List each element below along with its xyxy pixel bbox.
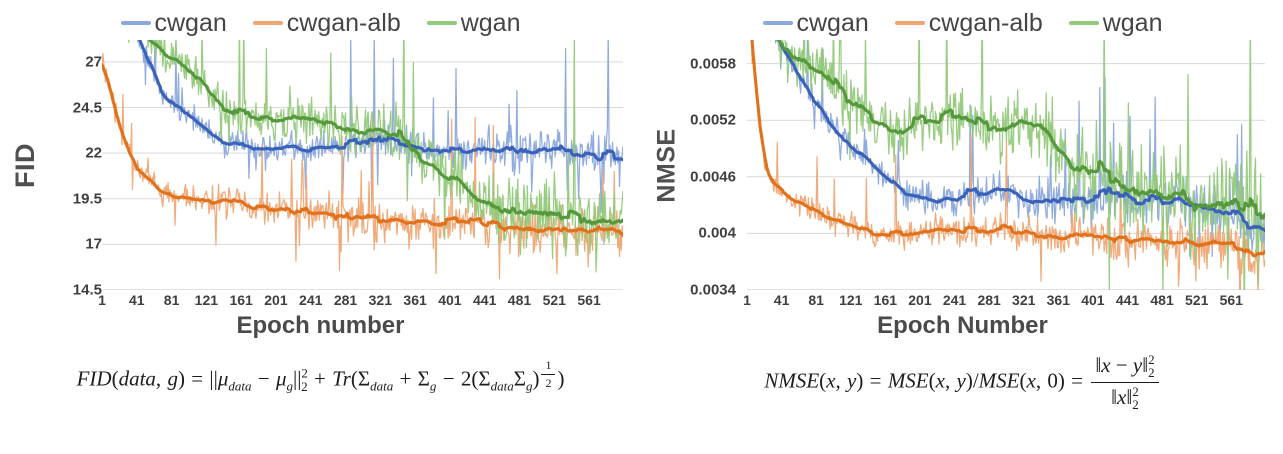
panel-nmse: cwgan cwgan-alb wgan NMSE 0.00580.00520.… bbox=[642, 0, 1283, 454]
x-tick-label: 481 bbox=[1150, 292, 1173, 308]
x-tick-label: 521 bbox=[1185, 292, 1208, 308]
x-tick-label: 41 bbox=[129, 292, 145, 308]
y-tick-label: 24.5 bbox=[73, 99, 102, 116]
chart-nmse: NMSE 0.00580.00520.00460.0040.0034 bbox=[642, 40, 1283, 290]
legend-item-cwgan: cwgan bbox=[763, 11, 869, 36]
y-tick-label: 0.0052 bbox=[690, 112, 736, 129]
legend-label-wgan: wgan bbox=[1103, 11, 1163, 36]
x-tick-label: 161 bbox=[229, 292, 252, 308]
x-tick-label: 281 bbox=[334, 292, 357, 308]
x-tick-label: 241 bbox=[943, 292, 966, 308]
figure-root: cwgan cwgan-alb wgan FID 2724.52219.5171… bbox=[0, 0, 1283, 454]
x-tick-label: 201 bbox=[264, 292, 287, 308]
legend-item-wgan: wgan bbox=[427, 11, 521, 36]
legend-nmse: cwgan cwgan-alb wgan bbox=[642, 6, 1283, 40]
y-tick-label: 0.004 bbox=[698, 225, 736, 242]
chart-fid: FID 2724.52219.51714.5 bbox=[0, 40, 641, 290]
legend-item-cwgan-alb: cwgan-alb bbox=[895, 11, 1043, 36]
x-tick-label: 401 bbox=[438, 292, 461, 308]
x-tick-label: 441 bbox=[1116, 292, 1139, 308]
x-tick-label: 561 bbox=[1220, 292, 1243, 308]
legend-item-cwgan: cwgan bbox=[121, 11, 227, 36]
formula-fid: FID(data,g)=||μdata−μg||22+Tr(Σdata+Σg−2… bbox=[0, 358, 641, 395]
x-tick-label: 361 bbox=[403, 292, 426, 308]
x-tick-label: 121 bbox=[195, 292, 218, 308]
y-tick-label: 0.0046 bbox=[690, 168, 736, 185]
x-tick-label: 401 bbox=[1081, 292, 1104, 308]
plot-area-fid bbox=[102, 40, 623, 290]
y-tick-label: 27 bbox=[85, 53, 102, 70]
legend-swatch-wgan bbox=[427, 21, 457, 25]
x-axis-title-fid: Epoch number bbox=[0, 312, 641, 340]
legend-label-cwgan-alb: cwgan-alb bbox=[929, 11, 1043, 36]
x-tick-label: 201 bbox=[908, 292, 931, 308]
x-tick-label: 561 bbox=[577, 292, 600, 308]
x-tick-label: 361 bbox=[1047, 292, 1070, 308]
legend-label-wgan: wgan bbox=[461, 11, 521, 36]
gridlines bbox=[102, 62, 623, 290]
x-tick-label: 161 bbox=[874, 292, 897, 308]
legend-swatch-cwgan bbox=[121, 21, 151, 25]
x-tick-label: 281 bbox=[977, 292, 1000, 308]
legend-swatch-wgan bbox=[1069, 21, 1099, 25]
y-tick-label: 19.5 bbox=[73, 190, 102, 207]
x-tick-label: 441 bbox=[473, 292, 496, 308]
x-axis-title-nmse: Epoch Number bbox=[642, 312, 1283, 340]
formula-nmse: NMSE(x,y)=MSE(x,y)/MSE(x,0)=‖x − y‖22‖x‖… bbox=[642, 352, 1283, 413]
legend-swatch-cwgan-alb bbox=[895, 21, 925, 25]
y-tick-label: 22 bbox=[85, 145, 102, 162]
legend-label-cwgan: cwgan bbox=[797, 11, 869, 36]
x-tick-label: 241 bbox=[299, 292, 322, 308]
legend-label-cwgan: cwgan bbox=[155, 11, 227, 36]
legend-swatch-cwgan-alb bbox=[253, 21, 283, 25]
legend-fid: cwgan cwgan-alb wgan bbox=[0, 6, 641, 40]
y-tick-label: 17 bbox=[85, 236, 102, 253]
x-tick-label: 321 bbox=[369, 292, 392, 308]
x-tick-label: 481 bbox=[508, 292, 531, 308]
legend-label-cwgan-alb: cwgan-alb bbox=[287, 11, 401, 36]
y-tick-label: 0.0058 bbox=[690, 55, 736, 72]
series-noisy-cwgan-alb bbox=[102, 54, 623, 279]
x-tick-label: 1 bbox=[743, 292, 751, 308]
x-tick-label: 321 bbox=[1012, 292, 1035, 308]
y-tick-label: 0.0034 bbox=[690, 282, 736, 299]
legend-swatch-cwgan bbox=[763, 21, 793, 25]
plot-area-nmse bbox=[747, 40, 1265, 290]
x-tick-label: 81 bbox=[164, 292, 180, 308]
x-tick-label: 521 bbox=[543, 292, 566, 308]
legend-item-cwgan-alb: cwgan-alb bbox=[253, 11, 401, 36]
x-tick-label: 41 bbox=[774, 292, 790, 308]
y-axis-ticks-fid: 2724.52219.51714.5 bbox=[30, 40, 102, 290]
chart-svg bbox=[102, 40, 623, 290]
chart-svg bbox=[747, 40, 1265, 290]
y-axis-ticks-nmse: 0.00580.00520.00460.0040.0034 bbox=[664, 40, 736, 290]
legend-item-wgan: wgan bbox=[1069, 11, 1163, 36]
x-tick-label: 81 bbox=[808, 292, 824, 308]
panel-fid: cwgan cwgan-alb wgan FID 2724.52219.5171… bbox=[0, 0, 641, 454]
x-tick-label: 1 bbox=[98, 292, 106, 308]
x-tick-label: 121 bbox=[839, 292, 862, 308]
